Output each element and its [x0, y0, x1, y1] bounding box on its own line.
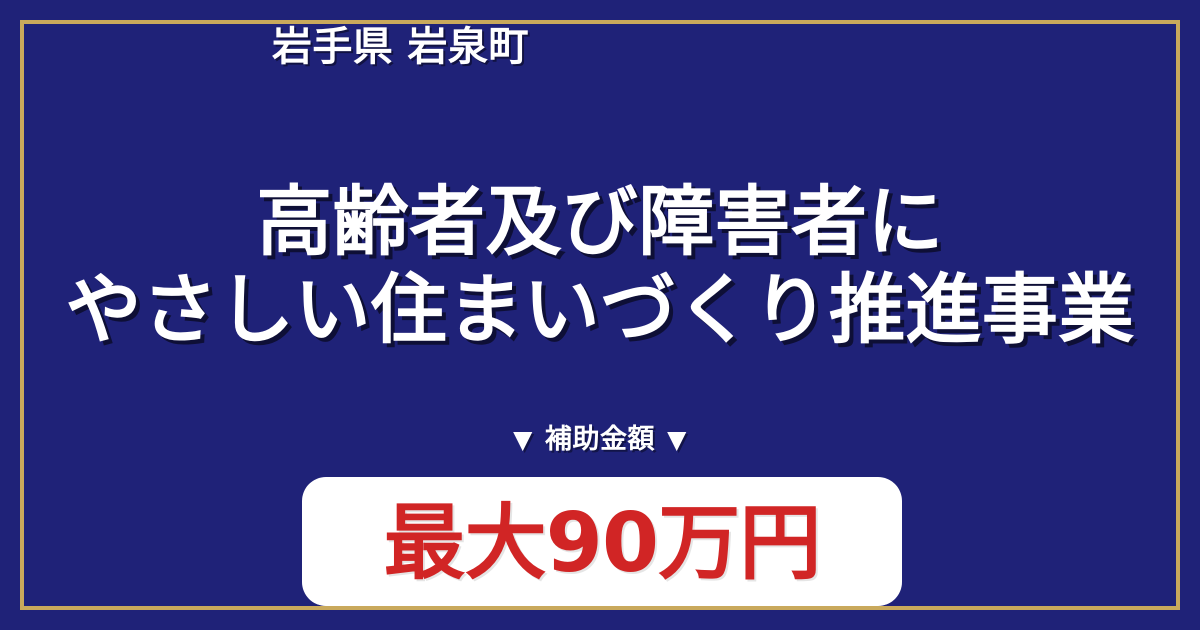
subsidy-amount-pill: 最大90万円 [302, 477, 902, 606]
locality-label: 岩手県 岩泉町 [272, 22, 529, 72]
triangle-down-left-icon: ▼ [513, 427, 533, 452]
subsidy-label-text: 補助金額 [545, 424, 655, 456]
program-title-line-1: 高齢者及び障害者に [0, 178, 1200, 266]
subsidy-banner: 岩手県 岩泉町 高齢者及び障害者に やさしい住まいづくり推進事業 ▼ 補助金額 … [0, 0, 1200, 630]
subsidy-amount-label: ▼ 補助金額 ▼ [0, 424, 1200, 456]
program-title: 高齢者及び障害者に やさしい住まいづくり推進事業 [0, 178, 1200, 354]
subsidy-amount-value: 最大90万円 [383, 503, 820, 585]
program-title-line-2: やさしい住まいづくり推進事業 [0, 266, 1200, 354]
subsidy-label-region: ▼ 補助金額 ▼ [0, 424, 1200, 456]
triangle-down-right-icon: ▼ [667, 427, 687, 452]
header-region: 岩手県 岩泉町 [0, 22, 1200, 102]
